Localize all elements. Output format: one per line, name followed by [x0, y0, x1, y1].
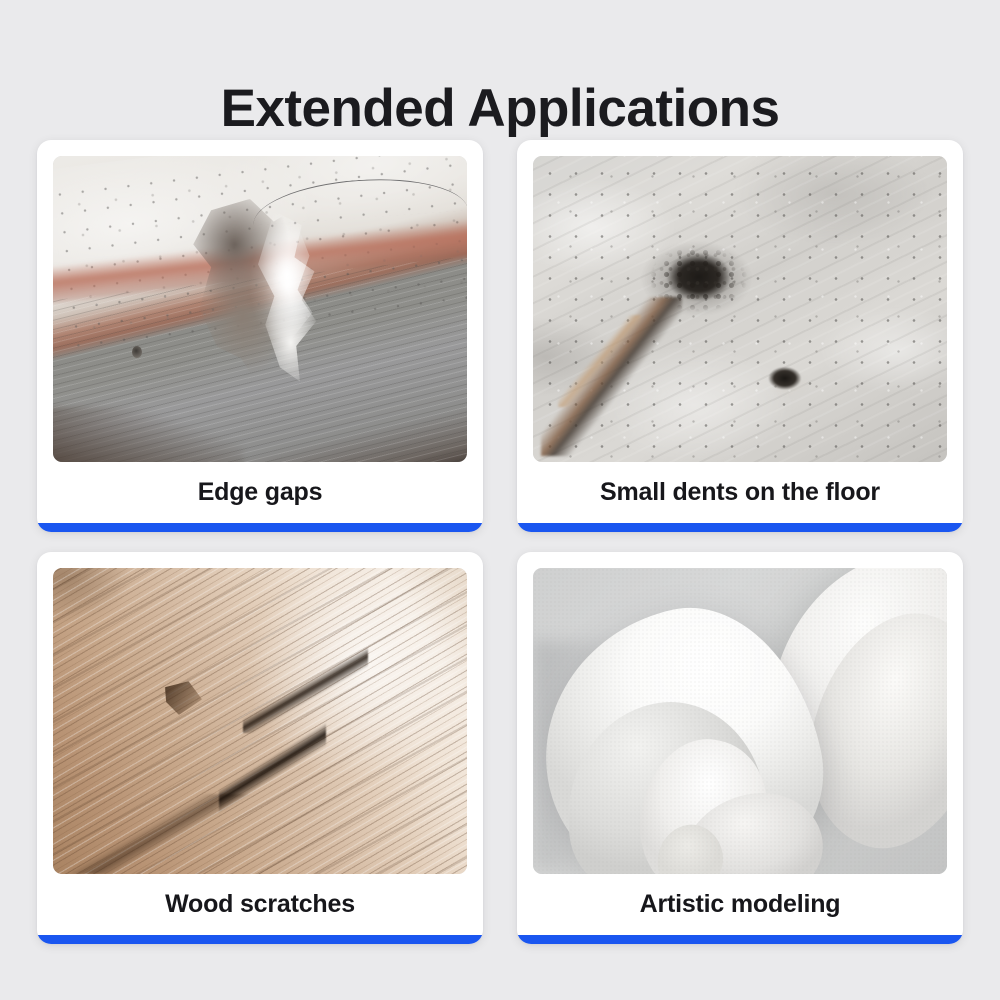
- shadow-corner: [53, 407, 243, 462]
- floor-dent-scene: [533, 156, 947, 462]
- large-dent-debris: [632, 233, 764, 325]
- edge-gap-scene: [53, 156, 467, 462]
- sculpture-surface-texture: [533, 568, 947, 874]
- card-label: Small dents on the floor: [600, 462, 880, 532]
- floor-crack-secondary: [558, 315, 641, 407]
- page-root: Extended Applications Edge gaps: [0, 0, 1000, 1000]
- application-card-edge-gaps[interactable]: Edge gaps: [37, 140, 483, 532]
- application-card-small-dents[interactable]: Small dents on the floor: [517, 140, 963, 532]
- application-card-artistic-modeling[interactable]: Artistic modeling: [517, 552, 963, 944]
- wood-scratch-scene: [53, 568, 467, 874]
- application-card-grid: Edge gaps Small dents on the floor: [37, 140, 963, 944]
- wood-scratch-photo: [53, 568, 467, 874]
- small-dent: [765, 364, 811, 398]
- small-pinhole: [132, 346, 142, 358]
- application-card-wood-scratches[interactable]: Wood scratches: [37, 552, 483, 944]
- card-accent-bar: [37, 523, 483, 532]
- edge-gap-photo: [53, 156, 467, 462]
- artistic-model-scene: [533, 568, 947, 874]
- artistic-model-photo: [533, 568, 947, 874]
- page-title: Extended Applications: [0, 78, 1000, 140]
- floor-dent-photo: [533, 156, 947, 462]
- card-accent-bar: [517, 935, 963, 944]
- card-accent-bar: [517, 523, 963, 532]
- wood-scratch-lower: [219, 721, 327, 813]
- card-label: Edge gaps: [198, 462, 323, 532]
- card-label: Artistic modeling: [640, 874, 841, 944]
- card-accent-bar: [37, 935, 483, 944]
- card-label: Wood scratches: [165, 874, 355, 944]
